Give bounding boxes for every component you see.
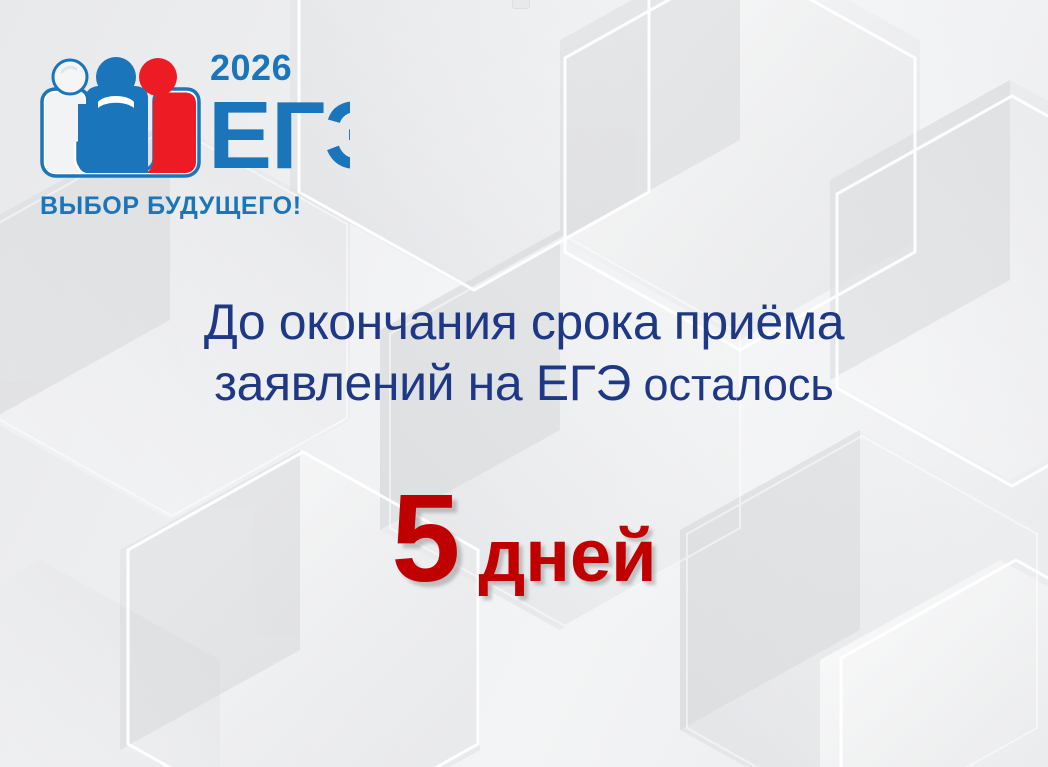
hexagon-outlines-faint [0,126,1037,767]
headline-line-2-part-2: осталось [643,359,833,410]
top-edge-artifact [512,0,530,9]
countdown-number: 5 [391,470,458,608]
headline-line-2-part-1: заявлений на ЕГЭ [214,355,631,411]
logo-slogan: ВЫБОР БУДУЩЕГО! [40,192,354,221]
headline-line-1-text: До окончания срока приёма [204,294,844,350]
poster-canvas: 2026 ЕГЭ ВЫБОР БУДУЩЕГО! До окончания ср… [0,0,1048,767]
three-figures-icon [42,57,199,176]
countdown-unit: дней [478,514,656,597]
headline-line-2-spacer [631,359,644,410]
logo-abbreviation-text: ЕГЭ [208,82,350,182]
ege-logo: 2026 ЕГЭ ВЫБОР БУДУЩЕГО! [34,42,354,221]
headline-line-1: До окончания срока приёма [0,296,1048,349]
ege-logo-mark: 2026 ЕГЭ [34,42,350,182]
headline: До окончания срока приёма заявлений на Е… [0,296,1048,410]
headline-line-2: заявлений на ЕГЭ осталось [0,357,1048,410]
countdown: 5дней [0,468,1048,610]
